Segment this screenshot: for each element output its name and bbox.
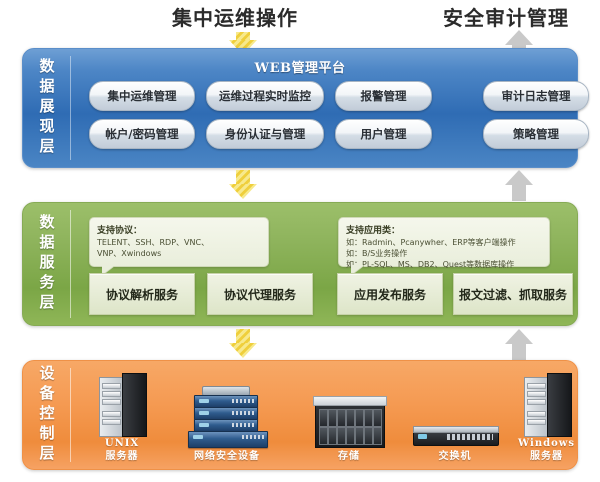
button-audit-log-management[interactable]: 审计日志管理 [483,81,589,111]
device-unix-server: UNIX 服务器 [99,373,145,463]
device-caption: 交换机 [439,451,472,464]
web-platform-title: WEB管理平台 [23,57,577,76]
heading-centralized-operations: 集中运维操作 [172,2,298,31]
callout-supported-protocols: 支持协议： TELENT、SSH、RDP、VNC、 VNP、Xwindows [89,217,269,267]
device-caption: 存储 [338,451,360,464]
button-identity-auth-mgmt[interactable]: 身份认证与管理 [206,119,324,149]
layer-device-control: 设备控制层 UNIX 服务器 [22,360,578,470]
button-alarm-management[interactable]: 报警管理 [335,81,432,111]
device-windows-server: Windows 服务器 [518,373,575,463]
arrow-down-low-yellow [229,329,257,358]
device-switch: 交换机 [413,426,497,464]
layer-divider [70,368,71,462]
network-security-appliance-stack-icon [188,386,266,448]
arrow-up-low-gray [505,329,533,360]
service-app-publishing[interactable]: 应用发布服务 [337,273,443,315]
arrow-down-mid-yellow [229,170,257,199]
callout-supported-applications: 支持应用类： 如：Radmin、Pcanywher、ERP等客户端操作 如：B/… [338,217,550,267]
layer-label-service: 数据服务层 [23,203,69,325]
service-protocol-parsing[interactable]: 协议解析服务 [89,273,195,315]
heading-security-audit-management: 安全审计管理 [443,2,569,31]
device-caption: UNIX 服务器 [105,438,139,463]
layer-divider [70,210,71,318]
button-ops-process-monitoring[interactable]: 运维过程实时监控 [206,81,324,111]
device-network-security: 网络安全设备 [188,386,266,464]
unix-tower-server-icon [99,373,145,435]
device-caption: 网络安全设备 [194,451,260,464]
button-policy-management[interactable]: 策略管理 [483,119,589,149]
device-caption: Windows 服务器 [518,438,575,463]
button-user-management[interactable]: 用户管理 [335,119,432,149]
button-account-password-mgmt[interactable]: 帐户/密码管理 [89,119,195,149]
arrow-up-mid-gray [505,170,533,201]
storage-rack-icon [313,396,385,448]
layer-data-service: 数据服务层 支持协议： TELENT、SSH、RDP、VNC、 VNP、Xwin… [22,202,578,326]
button-centralized-ops-mgmt[interactable]: 集中运维管理 [89,81,195,111]
layer-data-presentation: 数据展现层 WEB管理平台 集中运维管理 运维过程实时监控 报警管理 审计日志管… [22,48,578,168]
device-storage: 存储 [313,396,385,464]
network-switch-icon [413,426,497,448]
service-packet-filter-capture[interactable]: 报文过滤、抓取服务 [453,273,573,315]
windows-tower-server-icon [524,373,570,435]
service-protocol-proxy[interactable]: 协议代理服务 [207,273,313,315]
layer-label-device: 设备控制层 [23,361,69,469]
